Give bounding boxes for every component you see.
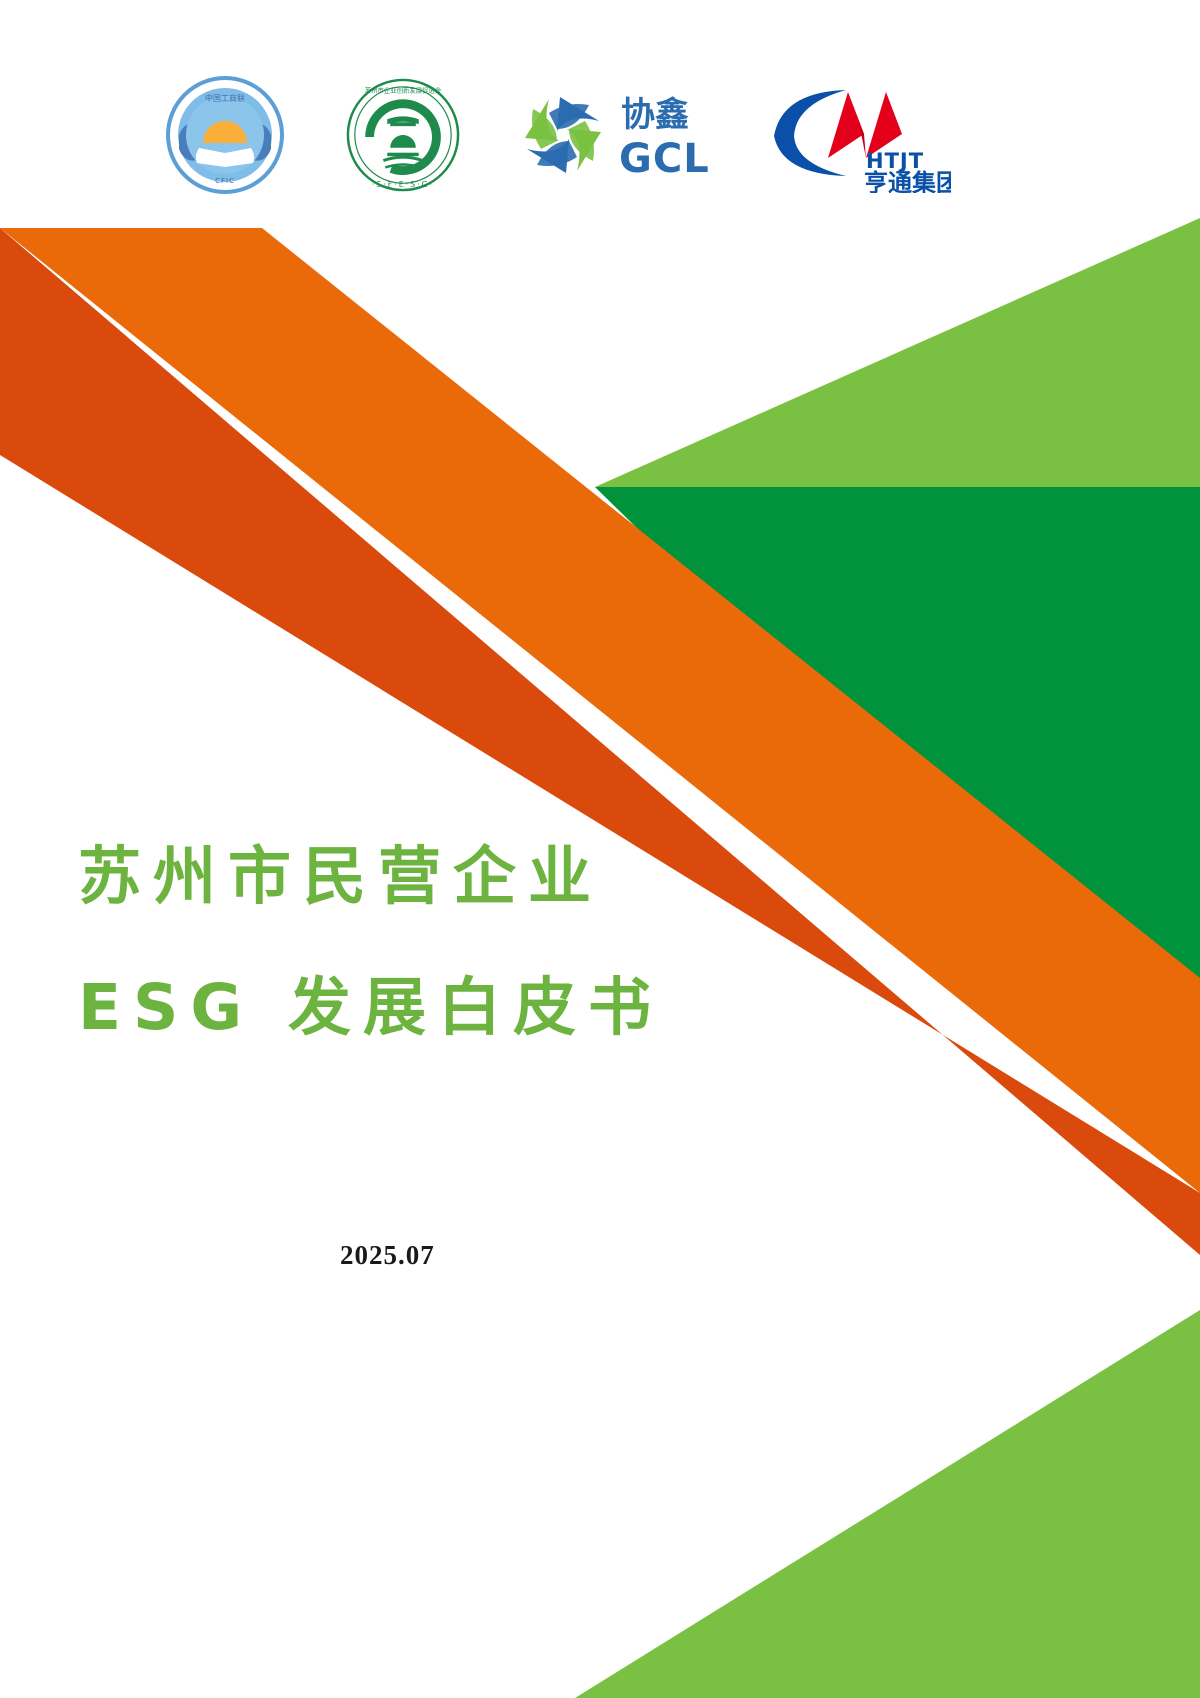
partner-logo-strip: 中国工商联 CFIC 苏州市企业创新发展促进会 ·S·F·E·S·G· — [0, 70, 1200, 200]
orange-diagonal-band-light — [0, 228, 1200, 1193]
hengtong-logo: HTJT 亨通集团 — [763, 75, 953, 195]
document-cover-page: 中国工商联 CFIC 苏州市企业创新发展促进会 ·S·F·E·S·G· — [0, 0, 1200, 1698]
sfesg-logo: 苏州市企业创新发展促进会 ·S·F·E·S·G· — [335, 75, 470, 195]
svg-text:协鑫: 协鑫 — [621, 95, 689, 135]
gcl-icon: 协鑫 GCL — [511, 80, 721, 190]
date-block: 2025.07 — [340, 1240, 600, 1271]
svg-text:GCL: GCL — [619, 136, 710, 182]
title-block: 苏州市民营企业 ESG 发展白皮书 — [78, 845, 818, 1039]
title-line-1: 苏州市民营企业 — [78, 845, 818, 908]
title-line-2: ESG 发展白皮书 — [78, 976, 818, 1039]
right-light-green-triangle — [595, 218, 1200, 487]
publication-date: 2025.07 — [340, 1240, 435, 1270]
svg-text:·S·F·E·S·G·: ·S·F·E·S·G· — [371, 180, 433, 189]
svg-text:亨通集团: 亨通集团 — [864, 169, 951, 193]
cfic-icon: 中国工商联 CFIC — [165, 75, 285, 195]
svg-text:CFIC: CFIC — [215, 177, 235, 185]
cfic-logo: 中国工商联 CFIC — [160, 75, 290, 195]
svg-text:苏州市企业创新发展促进会: 苏州市企业创新发展促进会 — [364, 86, 441, 95]
sfesg-icon: 苏州市企业创新发展促进会 ·S·F·E·S·G· — [344, 76, 462, 194]
orange-diagonal-band-dark — [0, 228, 1200, 1255]
bottom-right-green-triangle — [575, 1310, 1200, 1698]
hengtong-icon: HTJT 亨通集团 — [766, 78, 951, 193]
svg-text:中国工商联: 中国工商联 — [205, 93, 245, 103]
gcl-logo: 协鑫 GCL — [508, 75, 723, 195]
